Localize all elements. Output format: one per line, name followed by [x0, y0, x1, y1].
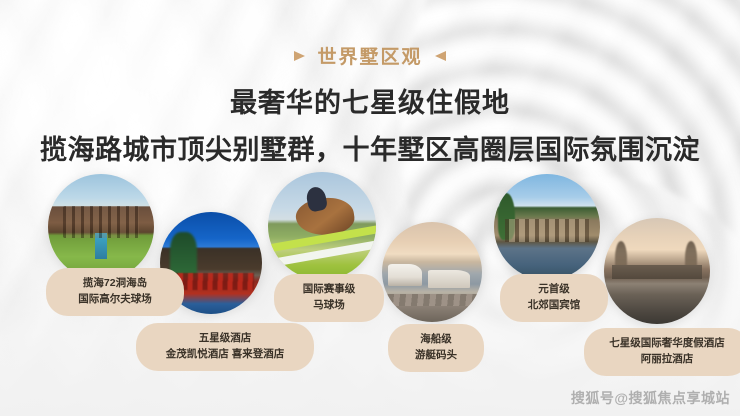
caption-line-2: 阿丽拉酒店 [598, 352, 736, 368]
feature-caption-golf: 揽海72洞海岛 国际高尔夫球场 [46, 268, 184, 316]
caption-line-1: 五星级酒店 [199, 332, 252, 344]
dock-walkway [382, 294, 482, 306]
caption-line-2: 北郊国宾馆 [514, 298, 594, 314]
feature-image-golf [48, 174, 154, 280]
yacht-large [388, 264, 422, 286]
caption-line-2: 金茂凯悦酒店 喜来登酒店 [150, 347, 300, 363]
heading-block: 世界墅区观 最奢华的七星级住假地 揽海路城市顶尖别墅群，十年墅区高圈层国际氛围沉… [0, 42, 740, 167]
arrow-left-icon [435, 51, 446, 61]
page-title: 最奢华的七星级住假地 [0, 81, 740, 120]
photo-island-golf-course-resort [48, 174, 154, 280]
feature-caption-statehouse: 元首级 北郊国宾馆 [500, 274, 608, 322]
page-subtitle: 揽海路城市顶尖别墅群，十年墅区高圈层国际氛围沉淀 [0, 128, 740, 167]
caption-line-2: 国际高尔夫球场 [60, 292, 170, 308]
feature-caption-polo: 国际赛事级 马球场 [274, 274, 384, 322]
caption-line-2: 马球场 [288, 298, 370, 314]
caption-line-1: 元首级 [538, 283, 570, 295]
arrow-right-icon [294, 51, 305, 61]
tree-left [615, 241, 628, 277]
feature-caption-alila: 七星级国际奢华度假酒店 阿丽拉酒店 [584, 328, 740, 376]
feature-caption-marina: 海船级 游艇码头 [388, 324, 484, 372]
photo-equestrian-show-jumping [268, 172, 376, 280]
watermark: 搜狐号@搜狐焦点享城站 [571, 388, 730, 408]
photo-lakeside-state-guesthouse [494, 174, 600, 280]
tree-right [685, 241, 698, 277]
caption-line-1: 七星级国际奢华度假酒店 [609, 337, 725, 349]
caption-line-2: 游艇码头 [402, 348, 470, 364]
feature-image-marina [382, 222, 482, 322]
photo-yacht-marina-sunset [382, 222, 482, 322]
yacht-small [428, 270, 470, 288]
feature-image-alila [604, 218, 710, 324]
feature-image-polo [268, 172, 376, 280]
caption-line-1: 国际赛事级 [303, 283, 356, 295]
feature-caption-hotels: 五星级酒店 金茂凯悦酒店 喜来登酒店 [136, 323, 314, 371]
photo-alila-resort-dusk-reflection [604, 218, 710, 324]
eyebrow-text: 世界墅区观 [317, 42, 422, 69]
caption-line-1: 揽海72洞海岛 [83, 277, 147, 289]
villa-district-poster: 世界墅区观 最奢华的七星级住假地 揽海路城市顶尖别墅群，十年墅区高圈层国际氛围沉… [0, 0, 740, 416]
tree-cluster [498, 193, 515, 240]
feature-image-statehouse [494, 174, 600, 280]
reflecting-pool [95, 233, 108, 258]
eyebrow-label: 世界墅区观 [0, 42, 740, 69]
caption-line-1: 海船级 [420, 333, 452, 345]
